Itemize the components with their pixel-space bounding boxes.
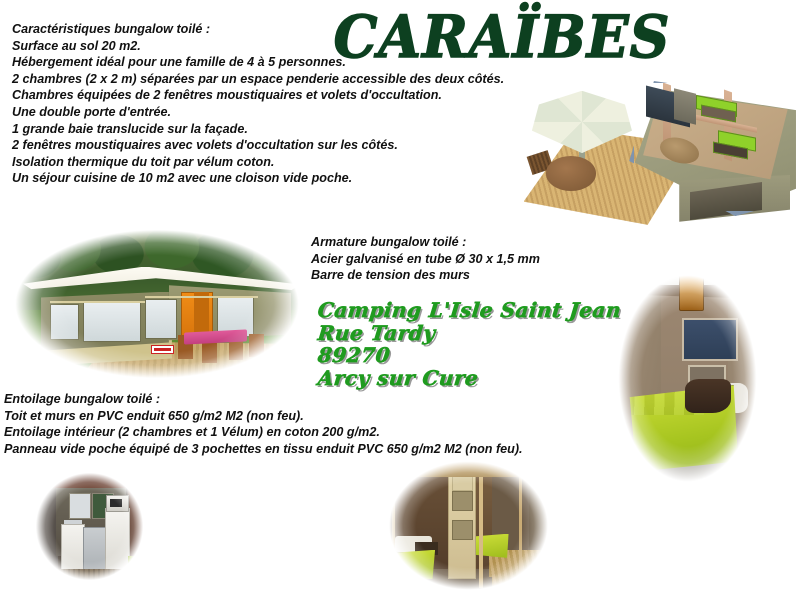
two-bedrooms-interior-photo xyxy=(385,458,552,593)
rooms-bed-left xyxy=(392,550,435,580)
specifications-line: Une double porte d'entrée. xyxy=(12,104,504,121)
specifications-line: Hébergement idéal pour une famille de 4 … xyxy=(12,54,504,71)
exterior-awning-rail xyxy=(145,296,258,298)
kitchen-interior-photo xyxy=(33,470,146,583)
specifications-text-block: Caractéristiques bungalow toilé : Surfac… xyxy=(12,21,504,187)
rooms-bed-right xyxy=(472,534,509,558)
frame-text-block: Armature bungalow toilé : Acier galvanis… xyxy=(311,234,540,284)
exterior-brand-logo xyxy=(151,345,174,355)
campsite-name: Camping L'Isle Saint Jean xyxy=(317,299,622,322)
kitchen-photo-content xyxy=(33,470,146,583)
cover-line: Panneau vide poche équipé de 3 pochettes… xyxy=(4,441,523,458)
kitchen-microwave xyxy=(106,495,128,512)
rooms-floor-shadow xyxy=(388,577,492,593)
specifications-line: 2 chambres (2 x 2 m) séparées par un esp… xyxy=(12,71,504,88)
frame-heading: Armature bungalow toilé : xyxy=(311,234,540,251)
bedroom-cushion xyxy=(685,379,731,414)
specifications-line: Isolation thermique du toit par vélum co… xyxy=(12,154,504,171)
exterior-awning-rail xyxy=(50,301,145,303)
exterior-window xyxy=(145,299,177,338)
render-photo-content xyxy=(518,72,796,228)
rooms-photo-content xyxy=(385,458,552,593)
frame-line: Barre de tension des murs xyxy=(311,267,540,284)
campsite-city: Arcy sur Cure xyxy=(317,367,622,390)
kitchen-window xyxy=(69,493,91,520)
rooms-frame-pole xyxy=(479,463,483,587)
bedroom-lamp xyxy=(679,274,704,311)
3d-cutaway-floorplan-render xyxy=(518,72,796,228)
kitchen-floor xyxy=(40,569,139,583)
rooms-frame-pole xyxy=(519,466,522,579)
bedroom-window xyxy=(682,318,738,361)
bedroom-photo-content xyxy=(615,270,760,487)
specifications-line: Surface au sol 20 m2. xyxy=(12,38,504,55)
campsite-address: Camping L'Isle Saint Jean Rue Tardy 8927… xyxy=(318,299,621,389)
bedroom-interior-photo xyxy=(615,270,760,487)
exterior-photo-content xyxy=(8,226,306,382)
rooms-panel-pocket xyxy=(452,520,473,540)
campsite-street: Rue Tardy xyxy=(317,322,622,345)
specifications-line: Chambres équipées de 2 fenêtres moustiqu… xyxy=(12,87,504,104)
kitchen-cabinet xyxy=(61,524,84,576)
kitchen-ceiling xyxy=(33,470,146,488)
specifications-line: Un séjour cuisine de 10 m2 avec une cloi… xyxy=(12,170,504,187)
cover-heading: Entoilage bungalow toilé : xyxy=(4,391,523,408)
rooms-pocket-panel xyxy=(448,466,475,579)
specifications-heading: Caractéristiques bungalow toilé : xyxy=(12,21,504,38)
cover-text-block: Entoilage bungalow toilé : Toit et murs … xyxy=(4,391,523,457)
rooms-panel-pocket xyxy=(452,491,473,511)
kitchen-tall-cupboard xyxy=(105,508,130,576)
rooms-frame-pole xyxy=(392,466,395,585)
campsite-postcode: 89270 xyxy=(317,344,622,367)
cover-line: Toit et murs en PVC enduit 650 g/m2 M2 (… xyxy=(4,408,523,425)
exterior-window xyxy=(83,302,142,341)
kitchen-left-wall xyxy=(33,479,58,574)
frame-line: Acier galvanisé en tube Ø 30 x 1,5 mm xyxy=(311,251,540,268)
brochure-page: CARAÏBES Caractéristiques bungalow toilé… xyxy=(0,0,800,600)
exterior-window xyxy=(50,304,79,340)
render-outdoor-table xyxy=(546,156,596,190)
exterior-chair xyxy=(249,334,264,357)
cover-line: Entoilage intérieur (2 chambres et 1 Vél… xyxy=(4,424,523,441)
specifications-line: 2 fenêtres moustiquaires avec volets d'o… xyxy=(12,137,504,154)
rooms-ceiling xyxy=(385,458,552,477)
specifications-line: 1 grande baie translucide sur la façade. xyxy=(12,121,504,138)
exterior-bungalow-tent-photo xyxy=(8,226,306,382)
